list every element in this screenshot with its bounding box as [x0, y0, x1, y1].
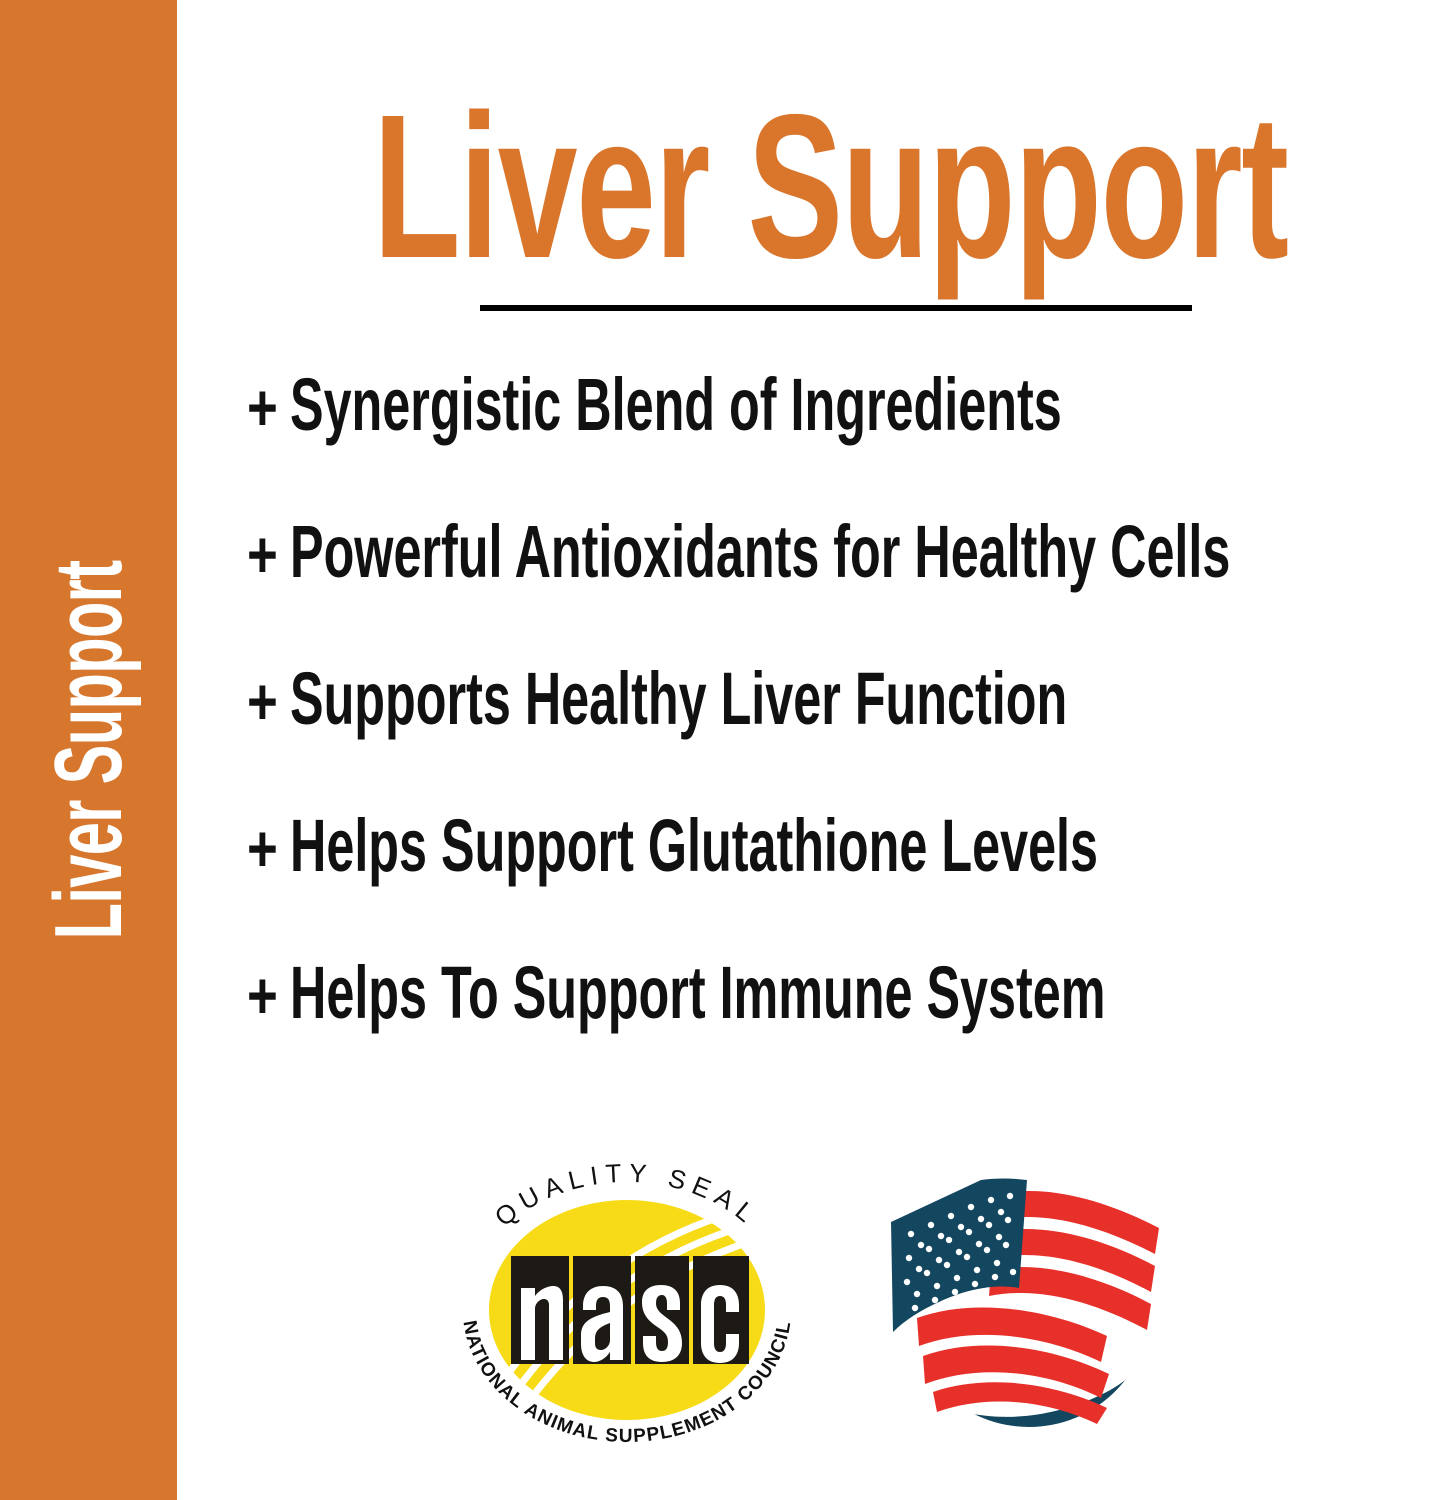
- list-item-label: Synergistic Blend of Ingredients: [290, 368, 1062, 442]
- list-item: + Supports Healthy Liver Function: [247, 662, 1432, 809]
- sidebar-vertical-title-text: Liver Support: [41, 561, 137, 940]
- list-item-label: Supports Healthy Liver Function: [290, 662, 1067, 736]
- seal-wordmark: [511, 1256, 749, 1364]
- page-title-text: Liver Support: [373, 84, 1288, 289]
- list-item: + Helps To Support Immune System: [247, 956, 1432, 1103]
- plus-icon: +: [247, 521, 278, 587]
- list-item: + Synergistic Blend of Ingredients: [247, 368, 1432, 515]
- benefit-list: + Synergistic Blend of Ingredients + Pow…: [247, 368, 1432, 1103]
- usa-flag-badge-icon: [877, 1170, 1177, 1440]
- list-item: + Helps Support Glutathione Levels: [247, 809, 1432, 956]
- plus-icon: +: [247, 815, 278, 881]
- certification-badges: QUALITY SEAL NATIONAL ANIMAL SUPPLEMENT …: [177, 1160, 1432, 1450]
- nasc-quality-seal-icon: QUALITY SEAL NATIONAL ANIMAL SUPPLEMENT …: [445, 1160, 809, 1448]
- waving-flag: [889, 1178, 1168, 1424]
- list-item-label: Powerful Antioxidants for Healthy Cells: [290, 515, 1230, 589]
- page-title: Liver Support: [177, 84, 1277, 289]
- list-item: + Powerful Antioxidants for Healthy Cell…: [247, 515, 1432, 662]
- product-feature-panel: Liver Support Liver Support + Synergisti…: [0, 0, 1432, 1500]
- sidebar-orange-band: Liver Support: [0, 0, 177, 1500]
- list-item-label: Helps Support Glutathione Levels: [290, 809, 1098, 883]
- title-divider: [480, 305, 1192, 311]
- sidebar-vertical-title: Liver Support: [41, 444, 137, 1055]
- plus-icon: +: [247, 374, 278, 440]
- content-column: Liver Support + Synergistic Blend of Ing…: [177, 0, 1432, 1500]
- list-item-label: Helps To Support Immune System: [290, 956, 1105, 1030]
- plus-icon: +: [247, 668, 278, 734]
- plus-icon: +: [247, 962, 278, 1028]
